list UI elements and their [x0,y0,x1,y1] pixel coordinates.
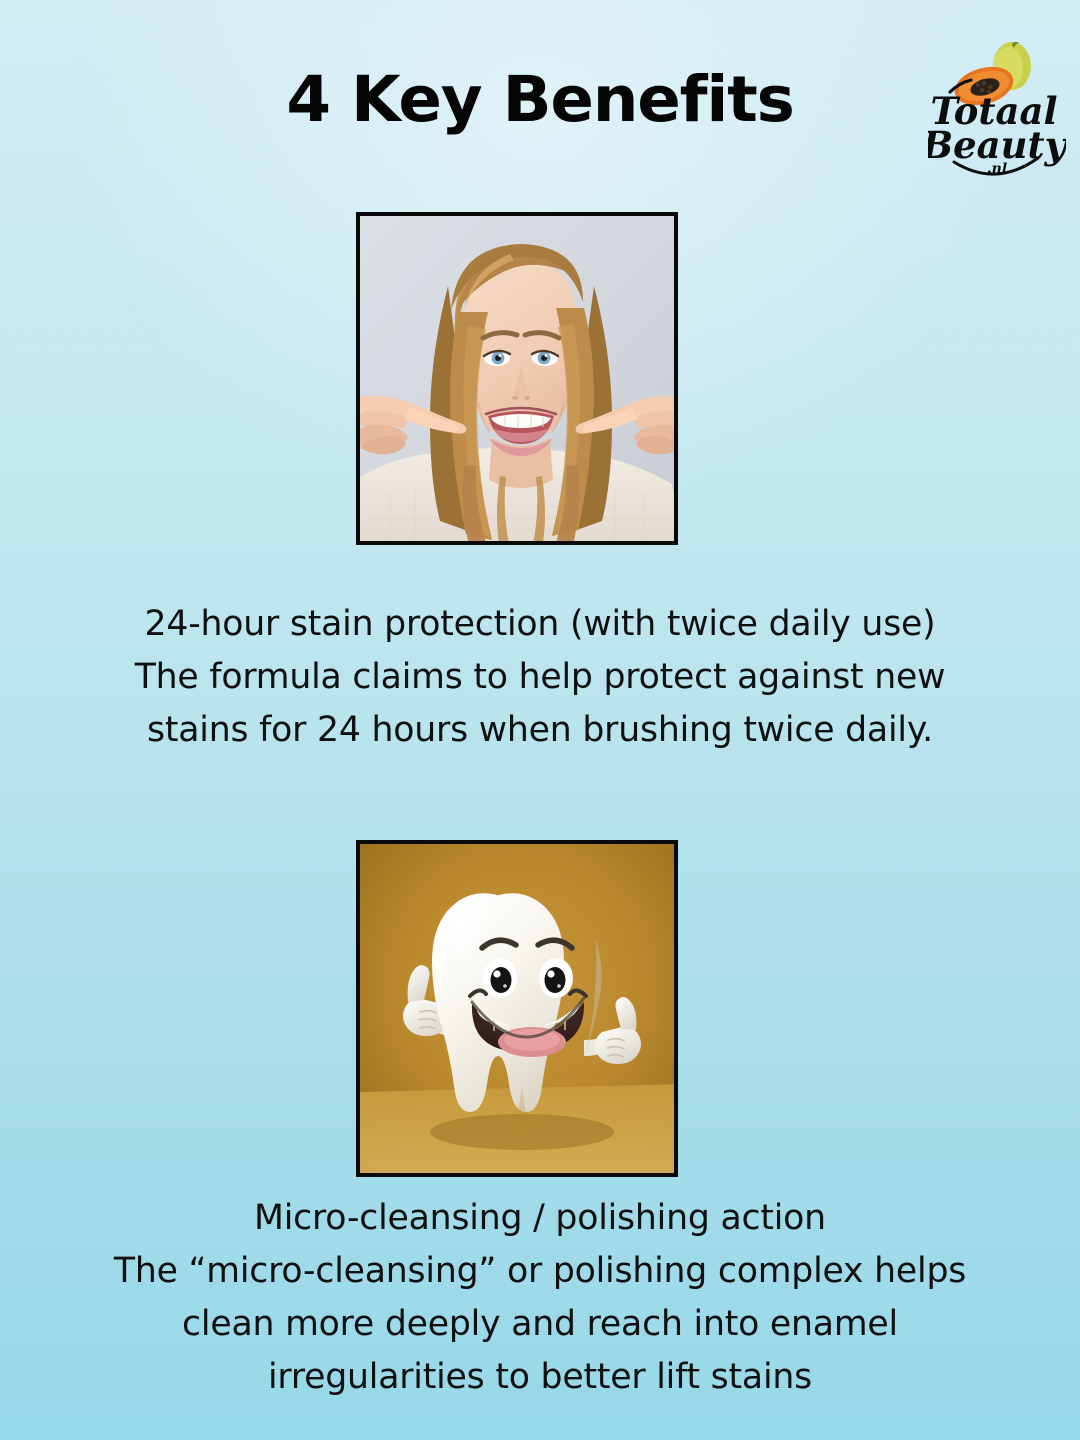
benefit-1-text: 24-hour stain protection (with twice dai… [55,598,1025,757]
benefit-1-line-1: 24-hour stain protection (with twice dai… [55,598,1025,651]
benefit-1-photo-frame [356,212,678,545]
page-title: 4 Key Benefits [0,68,1080,131]
woman-pointing-at-smile-photo [360,216,674,541]
benefit-2-line-3: clean more deeply and reach into enamel [55,1298,1025,1351]
benefit-2-line-4: irregularities to better lift stains [55,1351,1025,1404]
brand-logo-svg: Totaal Beauty .nl [928,42,1066,182]
brand-logo[interactable]: Totaal Beauty .nl [928,42,1066,182]
cartoon-tooth-thumbs-up-photo [360,844,674,1173]
benefit-2-text: Micro-cleansing / polishing action The “… [55,1192,1025,1404]
benefit-2-line-1: Micro-cleansing / polishing action [55,1192,1025,1245]
benefit-2-line-2: The “micro-cleansing” or polishing compl… [55,1245,1025,1298]
benefit-2-photo-frame [356,840,678,1177]
poster-canvas: 4 Key Benefits Totaal [0,0,1080,1440]
benefit-1-line-3: stains for 24 hours when brushing twice … [55,704,1025,757]
benefit-1-line-2: The formula claims to help protect again… [55,651,1025,704]
